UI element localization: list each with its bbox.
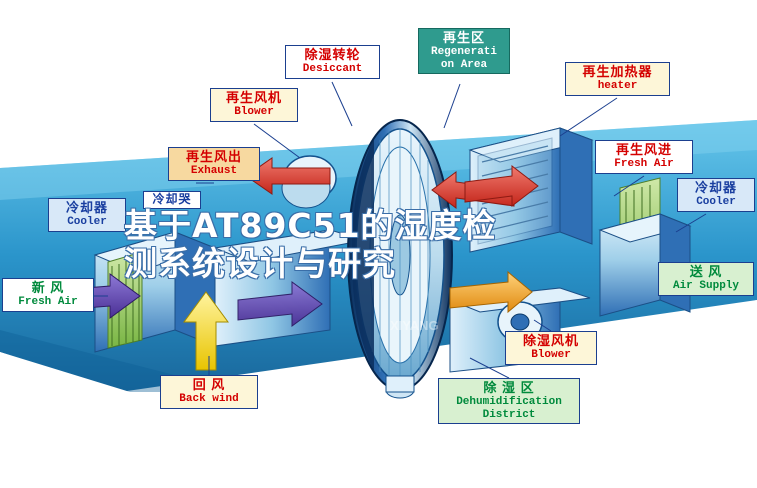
label-dehumidify-blower: 除湿风机 Blower <box>505 331 597 365</box>
label-dehumidification-district: 除 湿 区 Dehumidification District <box>438 378 580 424</box>
label-air-supply: 送 风 Air Supply <box>658 262 754 296</box>
label-regeneration-fresh-air: 再生风进 Fresh Air <box>595 140 693 174</box>
label-desiccant: 除湿转轮 Desiccant <box>285 45 380 79</box>
label-back-wind: 回 风 Back wind <box>160 375 258 409</box>
label-fresh-air: 新 风 Fresh Air <box>2 278 94 312</box>
label-cooler-left: 冷却器 Cooler <box>48 198 126 232</box>
diagram-canvas: XIYANG 除湿转轮 Desiccant 再生区 Regenerati on … <box>0 0 757 488</box>
label-regeneration-exhaust: 再生风出 Exhaust <box>168 147 260 181</box>
label-regeneration-heater: 再生加热器 heater <box>565 62 670 96</box>
svg-text:XIYANG: XIYANG <box>390 318 439 333</box>
label-regeneration-blower: 再生风机 Blower <box>210 88 298 122</box>
overlay-title: 基于AT89C51的湿度检 测系统设计与研究 <box>124 207 644 283</box>
label-regeneration-area: 再生区 Regenerati on Area <box>418 28 510 74</box>
label-cooler-right: 冷却器 Cooler <box>677 178 755 212</box>
overlay-title-line2: 测系统设计与研究 <box>124 245 644 283</box>
overlay-title-line1: 基于AT89C51的湿度检 <box>124 207 644 245</box>
